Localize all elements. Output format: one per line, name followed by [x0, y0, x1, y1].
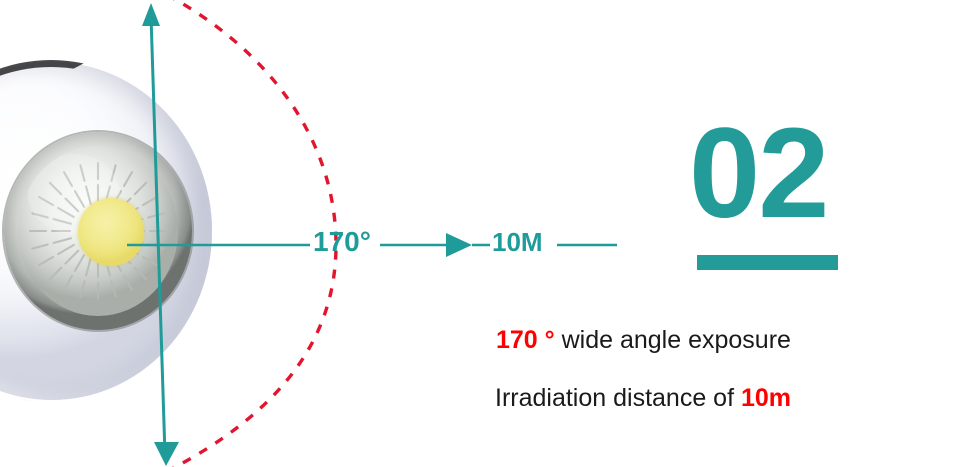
distance-arrow-right-icon	[446, 233, 472, 257]
infographic-canvas: 170° 10M 02 170 ° wide angle exposure Ir…	[0, 0, 960, 467]
feature-2-highlight: 10m	[741, 384, 791, 412]
feature-2-text: Irradiation distance of	[495, 384, 741, 412]
feature-panel: 02 170 ° wide angle exposure Irradiation…	[480, 110, 950, 430]
beam-arrow-up-icon	[142, 3, 160, 26]
feature-1-highlight: 170 °	[496, 326, 555, 354]
step-number: 02	[689, 110, 827, 238]
cob-led-emitter	[78, 198, 144, 266]
feature-1-text: wide angle exposure	[555, 326, 791, 354]
feature-text-wide-angle: 170 ° wide angle exposure	[496, 326, 791, 355]
led-puck-light-photo	[0, 62, 212, 400]
beam-angle-label: 170°	[313, 228, 371, 256]
feature-text-irradiation-distance: Irradiation distance of 10m	[495, 384, 791, 413]
beam-arrow-down-icon	[154, 442, 179, 466]
step-number-underline	[697, 255, 838, 270]
